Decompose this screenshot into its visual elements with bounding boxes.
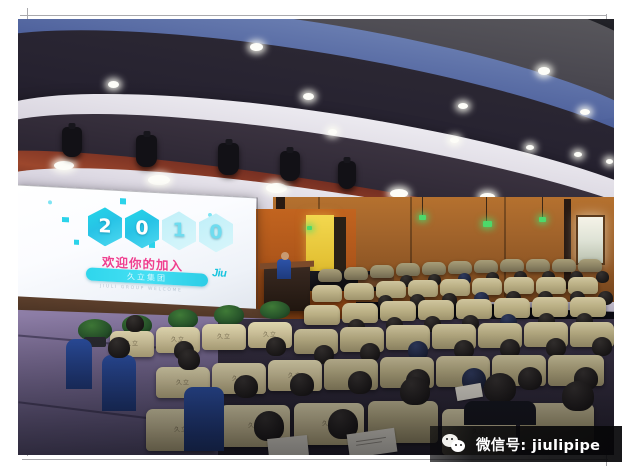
ceiling-lamp — [148, 175, 170, 185]
speaker-head — [281, 252, 289, 260]
seat — [448, 261, 472, 274]
ceiling-downlight — [606, 159, 613, 164]
attendee-head — [518, 367, 542, 390]
year-hexagon-2: 1 — [162, 210, 196, 251]
pendant-cord — [542, 197, 543, 217]
deco-square — [120, 198, 126, 204]
exit-sign-icon — [307, 226, 312, 230]
seat: 久立 — [202, 324, 246, 350]
staff-head — [108, 337, 130, 358]
deco-square — [74, 240, 79, 245]
attendee-head — [596, 271, 609, 283]
wechat-id-label: 微信号: jiulipipe — [476, 434, 600, 455]
seat — [474, 260, 498, 273]
attendee-head — [592, 337, 612, 356]
ceiling-downlight — [538, 67, 550, 75]
ceiling-downlight — [526, 145, 534, 150]
screenshot-root: 2 0 1 0 欢迎你的加入 久立集团 JIULI GROUP — [0, 0, 632, 473]
staff-uniform — [102, 355, 136, 411]
staff-uniform — [184, 387, 224, 451]
attendee-head — [562, 381, 594, 411]
auditorium-photo: 2 0 1 0 欢迎你的加入 久立集团 JIULI GROUP — [18, 19, 614, 455]
plant — [260, 301, 290, 319]
ceiling-downlight — [458, 103, 468, 109]
seat — [304, 305, 340, 325]
ceiling-lamp — [54, 161, 74, 170]
handout-paper — [267, 435, 309, 455]
seat — [552, 259, 576, 272]
attendee-head — [178, 349, 200, 370]
wechat-overlay: 微信号: jiulipipe — [430, 426, 622, 462]
year-digit-0: 2 — [98, 217, 111, 237]
deco-dot — [48, 200, 52, 204]
attendee-shoulders — [464, 401, 536, 425]
seat-brand: 久立 — [217, 332, 231, 341]
staff-uniform — [66, 339, 92, 389]
exit-sign-icon — [483, 221, 492, 227]
ceiling-downlight — [574, 152, 582, 157]
year-hexagon-1: 0 — [125, 208, 159, 249]
seat — [318, 269, 342, 282]
ceiling-downlight — [108, 81, 119, 88]
attendee-head — [348, 371, 372, 394]
attendee-head — [254, 411, 284, 441]
year-digit-1: 0 — [135, 219, 148, 239]
seat — [344, 267, 368, 280]
year-hexagons: 2 0 1 0 — [88, 206, 233, 253]
plant — [214, 305, 244, 325]
screen-logo-text: Jiu — [212, 267, 226, 280]
ceiling-spotlight — [62, 127, 82, 157]
seat — [526, 259, 550, 272]
ceiling-downlight — [250, 43, 263, 51]
attendee-head — [400, 377, 430, 405]
frame-rule-top — [20, 15, 606, 16]
speaker-body — [277, 259, 291, 279]
seat — [312, 285, 342, 302]
seat — [344, 283, 374, 300]
ceiling-downlight — [303, 93, 314, 100]
attendee-head — [266, 337, 286, 356]
pendant-cord — [422, 197, 423, 215]
attendee-head — [234, 375, 258, 398]
screen-subtitle: JIULI GROUP WELCOME — [100, 284, 182, 293]
ceiling-downlight — [450, 137, 459, 143]
ceiling-spotlight — [338, 161, 356, 189]
ceiling-downlight — [580, 109, 590, 115]
seat — [578, 259, 602, 272]
attendee-head — [290, 373, 314, 396]
year-hexagon-3: 0 — [199, 212, 233, 253]
ceiling-lamp — [266, 183, 287, 193]
seat — [370, 265, 394, 278]
screen-brand-text: 久立集团 — [127, 271, 167, 284]
ceiling-spotlight — [136, 135, 157, 167]
ceiling-spotlight — [280, 151, 300, 181]
year-digit-3: 0 — [209, 223, 222, 243]
year-hexagon-0: 2 — [88, 206, 122, 247]
year-digit-2: 1 — [172, 221, 185, 241]
exit-sign-icon — [419, 215, 426, 220]
exit-sign-icon — [539, 217, 546, 222]
deco-square — [62, 217, 69, 222]
seat — [396, 263, 420, 276]
attendee-head — [126, 315, 144, 332]
plant — [168, 309, 198, 329]
wechat-logo-icon — [442, 434, 467, 454]
pendant-cord — [486, 197, 487, 221]
ceiling-downlight — [328, 129, 337, 135]
ceiling-spotlight — [218, 143, 239, 175]
seat-brand: 久立 — [176, 377, 190, 386]
window-bright — [576, 215, 605, 265]
attendee-head — [484, 373, 516, 403]
